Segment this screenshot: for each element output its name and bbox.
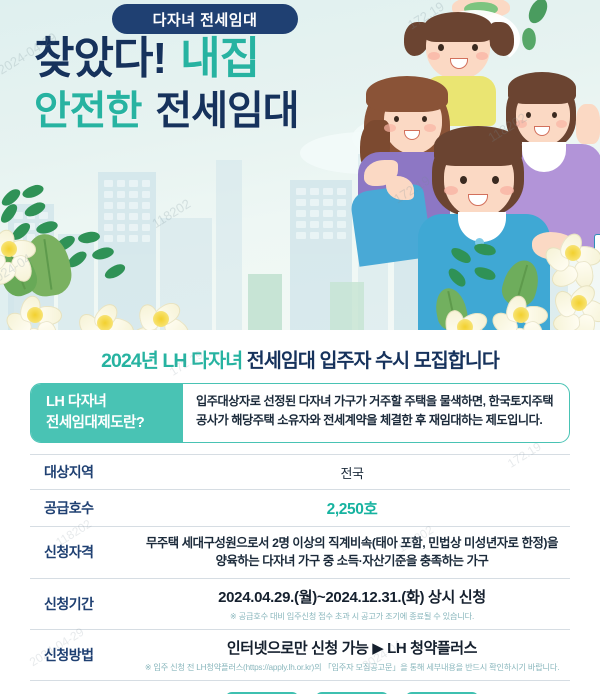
row-value-region: 전국 — [134, 455, 570, 490]
support-limit-badges: 수도권 (서울, 경기, 인천) 155백만원/호 광역시 (세종시 포함) 1… — [142, 688, 562, 694]
table-row: 신청방법 인터넷으로만 신청 가능 ▶ LH 청약플러스 ※ 입주 신청 전 L… — [30, 629, 570, 680]
row-value-eligibility: 무주택 세대구성원으로서 2명 이상의 직계비속(태아 포함, 민법상 미성년자… — [134, 527, 570, 579]
headline-line1-primary: 찾았다! — [34, 36, 166, 82]
leaf-shape — [449, 245, 473, 266]
details-table: 대상지역 전국 공급호수 2,250호 신청자격 무주택 세대구성원으로서 2명… — [30, 454, 570, 694]
leaf-shape — [23, 200, 48, 219]
headline-line2-secondary: 전세임대 — [155, 88, 298, 134]
headline-line1-secondary: 내집 — [180, 36, 259, 82]
category-pill: 다자녀 전세임대 — [112, 4, 298, 34]
leaf-shape — [103, 262, 128, 282]
application-method-note: ※ 입주 신청 전 LH청약플러스(https://apply.lh.or.kr… — [142, 661, 562, 673]
leaf-shape — [35, 220, 59, 236]
table-row: 공급호수 2,250호 — [30, 490, 570, 527]
program-definition-label: LH 다자녀 전세임대제도란? — [31, 384, 183, 442]
row-label-region: 대상지역 — [30, 455, 134, 490]
section-title: 2024년 LH 다자녀 전세임대 입주자 수시 모집합니다 — [30, 330, 570, 383]
table-row: 신청기간 2024.04.29.(월)~2024.12.31.(화) 상시 신청… — [30, 578, 570, 629]
leaf-shape — [520, 27, 538, 51]
program-definition-label-line1: LH 다자녀 — [46, 392, 183, 413]
row-value-limit: 수도권 (서울, 경기, 인천) 155백만원/호 광역시 (세종시 포함) 1… — [134, 680, 570, 694]
green-block-shape — [330, 282, 364, 330]
flower-shape — [8, 288, 62, 330]
leaf-shape — [21, 183, 45, 200]
flower-shape — [438, 300, 492, 330]
building-shape — [216, 160, 242, 330]
category-pill-label: 다자녀 전세임대 — [153, 9, 258, 30]
table-row: 지 원 한 도 액 수도권 (서울, 경기, 인천) 155백만원/호 — [30, 680, 570, 694]
leaf-shape — [77, 231, 100, 244]
application-method: 인터넷으로만 신청 가능 ▶ LH 청약플러스 — [227, 640, 477, 657]
flower-shape — [546, 226, 600, 280]
application-period-note: ※ 공급호수 대비 입주신청 접수 초과 시 공고가 조기에 종료될 수 있습니… — [142, 610, 562, 622]
flower-shape — [552, 276, 600, 330]
application-period: 2024.04.29.(월)~2024.12.31.(화) 상시 신청 — [218, 589, 486, 606]
program-definition-label-line2: 전세임대제도란? — [46, 413, 183, 434]
green-block-shape — [248, 274, 282, 330]
flower-shape — [134, 292, 188, 330]
row-label-eligibility: 신청자격 — [30, 527, 134, 579]
row-label-method: 신청방법 — [30, 629, 134, 680]
headline-block: 찾았다! 내집 안전한 전세임대 — [34, 36, 299, 134]
row-value-supply: 2,250호 — [134, 490, 570, 527]
section-title-year: 2024년 LH 다자녀 — [101, 350, 242, 372]
eligibility-text-pre: 무주택 세대구성원으로서 — [146, 536, 272, 550]
leaf-shape — [526, 0, 549, 26]
row-label-limit: 지 원 한 도 액 — [30, 680, 134, 694]
poster: 다자녀 전세임대 찾았다! 내집 안전한 전세임대 2024-04-29 172… — [0, 0, 600, 694]
program-definition-text: 입주대상자로 선정된 다자녀 가구가 거주할 주택을 물색하면, 한국토지주택공… — [183, 384, 569, 442]
flower-shape — [0, 226, 32, 272]
row-label-supply: 공급호수 — [30, 490, 134, 527]
leaf-shape — [446, 266, 469, 290]
headline-line2-primary: 안전한 — [34, 88, 141, 134]
flower-shape — [494, 288, 548, 330]
content-section: 2024년 LH 다자녀 전세임대 입주자 수시 모집합니다 LH 다자녀 전세… — [0, 330, 600, 694]
program-definition-box: LH 다자녀 전세임대제도란? 입주대상자로 선정된 다자녀 가구가 거주할 주… — [30, 383, 570, 443]
eligibility-text-highlight: 2명 이상의 — [272, 536, 325, 550]
leaf-shape — [473, 264, 498, 282]
leaf-shape — [473, 242, 497, 258]
row-value-method: 인터넷으로만 신청 가능 ▶ LH 청약플러스 ※ 입주 신청 전 LH청약플러… — [134, 629, 570, 680]
table-row: 대상지역 전국 — [30, 455, 570, 490]
hero-illustration: 다자녀 전세임대 찾았다! 내집 안전한 전세임대 2024-04-29 172… — [0, 0, 600, 330]
row-label-period: 신청기간 — [30, 578, 134, 629]
section-title-rest: 전세임대 입주자 수시 모집합니다 — [247, 350, 499, 372]
leaf-shape — [91, 246, 115, 261]
row-value-period: 2024.04.29.(월)~2024.12.31.(화) 상시 신청 ※ 공급… — [134, 578, 570, 629]
supply-count: 2,250호 — [327, 501, 378, 518]
table-row: 신청자격 무주택 세대구성원으로서 2명 이상의 직계비속(태아 포함, 민법상… — [30, 527, 570, 579]
flower-shape — [78, 296, 132, 330]
